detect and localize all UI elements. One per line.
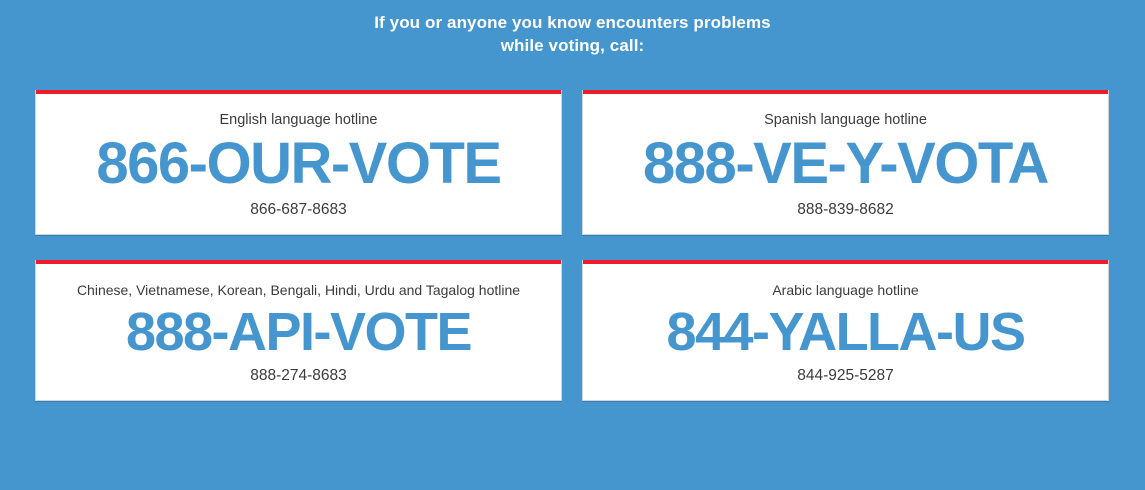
card-body: Chinese, Vietnamese, Korean, Bengali, Hi… — [36, 264, 561, 400]
card-body: Arabic language hotline 844-YALLA-US 844… — [583, 264, 1108, 400]
hotline-vanity-number[interactable]: 888-API-VOTE — [46, 301, 551, 363]
hotline-caption: Arabic language hotline — [593, 281, 1098, 299]
hotline-card-spanish[interactable]: Spanish language hotline 888-VE-Y-VOTA 8… — [582, 90, 1109, 235]
hotline-card-english[interactable]: English language hotline 866-OUR-VOTE 86… — [35, 90, 562, 235]
hotline-caption: English language hotline — [46, 111, 551, 129]
hotline-card-grid: English language hotline 866-OUR-VOTE 86… — [0, 90, 1145, 401]
hotline-dial-number[interactable]: 888-274-8683 — [46, 366, 551, 386]
card-body: Spanish language hotline 888-VE-Y-VOTA 8… — [583, 94, 1108, 234]
hotline-dial-number[interactable]: 888-839-8682 — [593, 200, 1098, 220]
hotline-dial-number[interactable]: 866-687-8683 — [46, 200, 551, 220]
hotline-vanity-number[interactable]: 866-OUR-VOTE — [46, 131, 551, 197]
hotline-caption: Chinese, Vietnamese, Korean, Bengali, Hi… — [46, 281, 551, 299]
hotline-vanity-number[interactable]: 844-YALLA-US — [593, 301, 1098, 363]
page-header: If you or anyone you know encounters pro… — [0, 0, 1145, 57]
hotline-caption: Spanish language hotline — [593, 111, 1098, 129]
header-line-2: while voting, call: — [0, 34, 1145, 57]
hotline-card-asian-languages[interactable]: Chinese, Vietnamese, Korean, Bengali, Hi… — [35, 260, 562, 401]
card-body: English language hotline 866-OUR-VOTE 86… — [36, 94, 561, 234]
hotline-card-arabic[interactable]: Arabic language hotline 844-YALLA-US 844… — [582, 260, 1109, 401]
hotline-dial-number[interactable]: 844-925-5287 — [593, 366, 1098, 386]
hotline-panel: If you or anyone you know encounters pro… — [0, 0, 1145, 490]
header-line-1: If you or anyone you know encounters pro… — [0, 11, 1145, 34]
hotline-vanity-number[interactable]: 888-VE-Y-VOTA — [593, 131, 1098, 197]
